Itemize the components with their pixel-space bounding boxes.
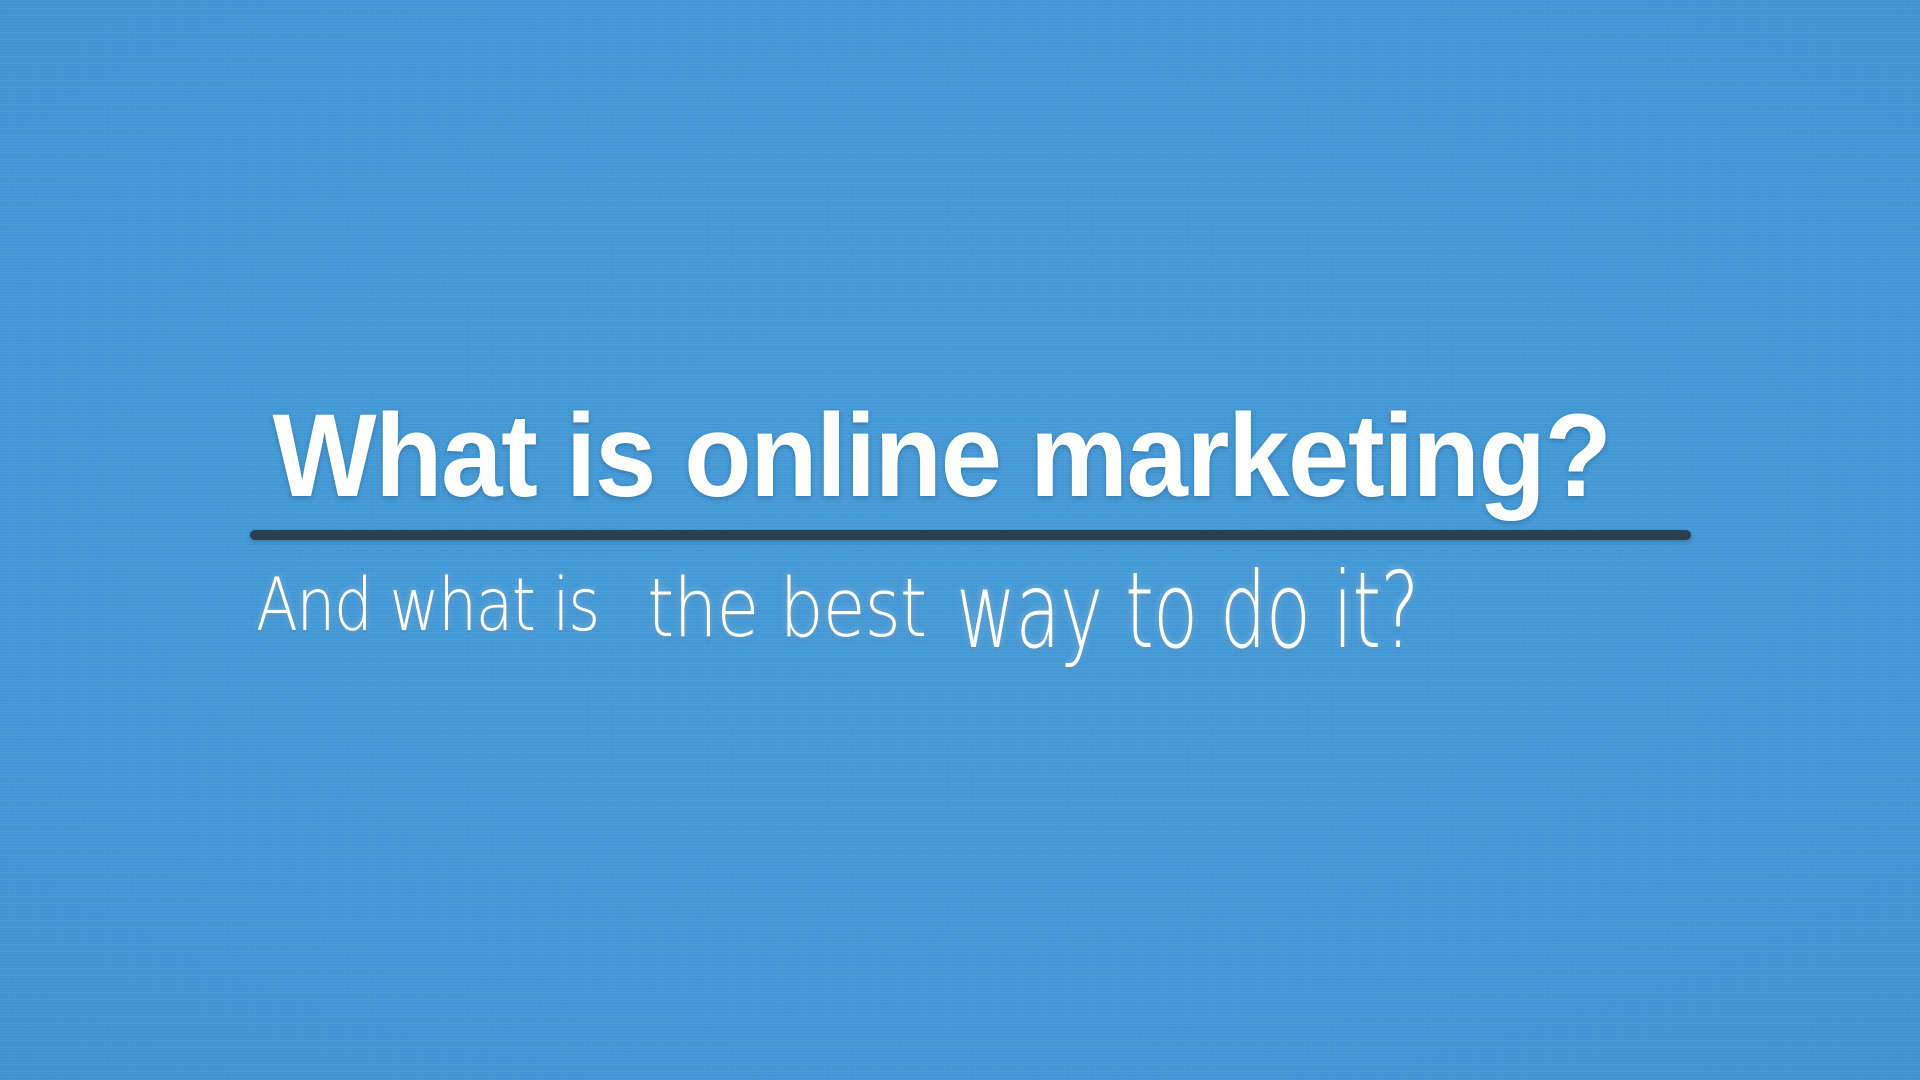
slide-text-block: What is online marketing? And what isthe… bbox=[250, 396, 1710, 646]
headline-underline-divider bbox=[250, 530, 1691, 540]
subtitle-segment-3: way to do it? bbox=[956, 559, 1419, 664]
subtitle-segment-2: the best bbox=[647, 568, 926, 649]
page-title: What is online marketing? bbox=[250, 396, 1615, 516]
presentation-slide: What is online marketing? And what isthe… bbox=[0, 0, 1920, 1080]
subtitle-segment-1: And what is bbox=[256, 570, 599, 643]
slide-subtitle: And what isthe bestway to do it? bbox=[250, 554, 1710, 646]
